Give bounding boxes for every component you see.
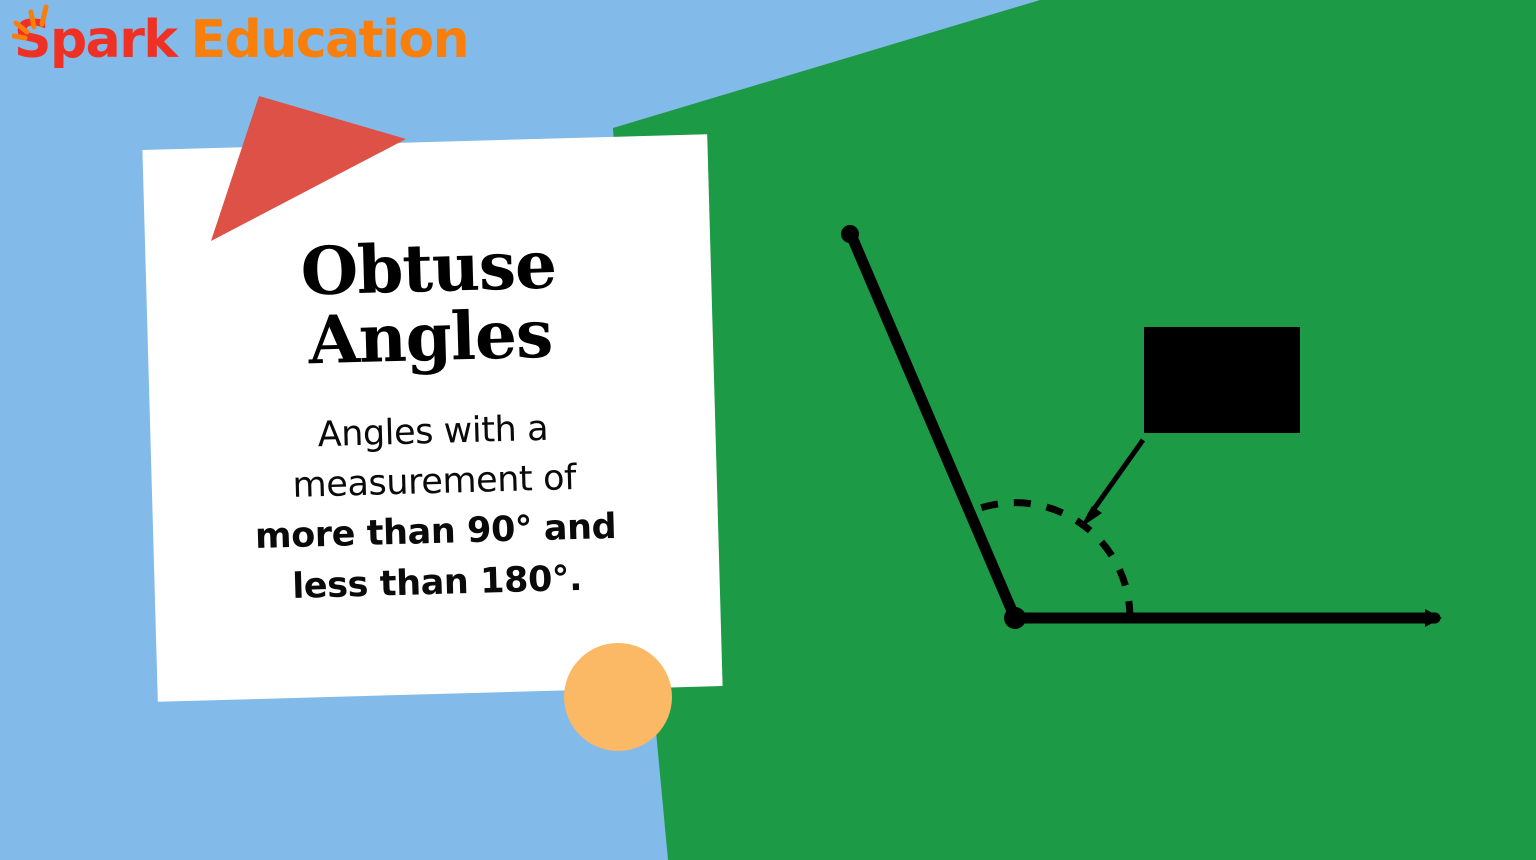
upper-left-ray xyxy=(852,237,1015,618)
page-title: Obtuse Angles xyxy=(179,227,680,379)
upper-left-ray-endpoint xyxy=(841,225,859,243)
obtuse-angle-illustration xyxy=(780,180,1500,680)
info-card: Obtuse Angles Angles with a measurement … xyxy=(142,134,722,702)
info-card-content: Obtuse Angles Angles with a measurement … xyxy=(145,226,720,616)
orange-circle-decoration xyxy=(564,643,672,751)
label-arrow-head xyxy=(1080,506,1102,528)
logo-education-text: Education xyxy=(191,14,469,66)
vertex-dot xyxy=(1004,607,1026,629)
angle-value-label: 110° xyxy=(1206,371,1238,389)
angle-value-badge: 110° xyxy=(1144,327,1300,433)
info-card-body: Angles with a measurement of more than 9… xyxy=(184,400,686,615)
infographic-canvas: 110° Obtuse Angles Angles with a measure… xyxy=(0,0,1536,860)
label-arrow-shaft xyxy=(1089,440,1143,516)
horizontal-ray-endpoint xyxy=(1425,609,1442,627)
logo-spark-text: Spark xyxy=(14,14,177,66)
brand-logo: Spark Education xyxy=(14,14,468,66)
